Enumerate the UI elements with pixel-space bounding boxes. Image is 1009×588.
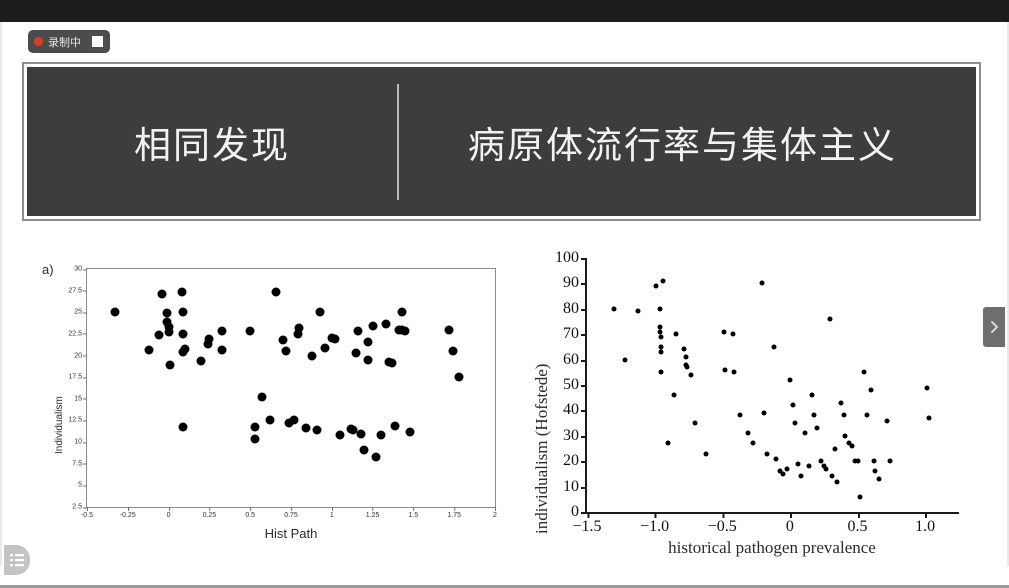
y-tick-label: 30 [563,427,587,445]
x-tick-label: 0.5 [848,512,868,536]
scatter-point [798,474,803,479]
scatter-point [658,306,663,311]
list-menu-icon [10,553,24,567]
y-tick-label: 100 [555,249,587,267]
chart-b-y-axis-label: individualism (Hofstede) [532,364,552,534]
y-tick-label: 15 [74,395,87,402]
x-tick-label: -0.25 [120,507,136,519]
next-slide-button[interactable] [983,307,1005,347]
scatter-point [455,373,464,382]
x-tick-label: 0.25 [203,507,217,519]
x-tick-label: -0.5 [81,507,93,519]
scatter-point [154,330,163,339]
scatter-point [862,370,867,375]
x-tick-label: −0.5 [708,512,737,536]
y-tick-label: 50 [563,376,587,394]
scatter-point [824,466,829,471]
scatter-point [353,327,362,336]
scatter-point [363,337,372,346]
scatter-point [246,327,255,336]
y-tick-label: 10 [74,439,87,446]
scatter-point [388,359,397,368]
x-tick-label: 0 [786,512,794,536]
scatter-point [158,290,167,299]
scatter-point [689,372,694,377]
scatter-point [301,424,310,433]
x-tick-label: 1.0 [915,512,935,536]
scatter-point [839,400,844,405]
scatter-point [401,327,410,336]
chart-b-x-axis-label: historical pathogen prevalence [585,538,959,558]
scatter-point [885,418,890,423]
scatter-point [842,413,847,418]
scatter-point [877,476,882,481]
scatter-point [282,347,291,356]
x-tick-label: 0.5 [245,507,255,519]
scatter-point [352,348,361,357]
scatter-point [682,347,687,352]
scatter-point [376,431,385,440]
scatter-point [179,329,188,338]
scatter-point [685,365,690,370]
scatter-point [693,421,698,426]
scatter-point [722,367,727,372]
y-tick-label: 27.5 [68,287,87,294]
scatter-point [218,327,227,336]
scatter-point [790,403,795,408]
scatter-point [721,329,726,334]
y-tick-label: 20 [563,452,587,470]
scatter-point [368,322,377,331]
chart-b-plot-area: 0102030405060708090100−1.5−1.0−0.500.51.… [585,258,959,514]
scatter-point [659,334,664,339]
record-dot-icon [34,37,43,46]
chart-a-plot-area: 2.557.51012.51517.52022.52527.530-0.5-0.… [86,268,496,508]
scatter-point [257,393,266,402]
scatter-point [745,431,750,436]
x-tick-label: 1 [330,507,334,519]
y-tick-label: 20 [74,352,87,359]
y-tick-label: 40 [563,401,587,419]
scatter-point [251,435,260,444]
scatter-point [666,441,671,446]
scatter-chart-panel-b: individualism (Hofstede) historical path… [522,244,982,554]
chart-a-x-axis-label: Hist Path [86,526,496,541]
y-tick-label: 12.5 [68,417,87,424]
scatter-point [843,433,848,438]
scatter-point [636,309,641,314]
scatter-point [371,452,380,461]
scatter-point [363,355,372,364]
scatter-point [179,308,188,317]
scatter-point [660,278,665,283]
x-tick-label: 2 [493,507,497,519]
scatter-point [406,427,415,436]
x-tick-label: 1.25 [366,507,380,519]
scatter-point [927,416,932,421]
scatter-point [321,343,330,352]
panel-label-a: a) [42,262,54,277]
scatter-point [205,335,214,344]
scatter-point [796,461,801,466]
scatter-point [814,426,819,431]
scatter-point [674,332,679,337]
scatter-point [445,326,454,335]
x-tick-label: −1.0 [640,512,669,536]
scatter-point [290,416,299,425]
scatter-point [265,416,274,425]
scatter-chart-panel-a: a) Individualism Hist Path 2.557.51012.5… [32,254,502,549]
scatter-point [835,479,840,484]
scatter-point [737,413,742,418]
scatter-point [166,361,175,370]
scatter-point [612,306,617,311]
window-top-bar [0,0,1009,22]
scatter-point [771,344,776,349]
scatter-point [145,346,154,355]
scatter-point [850,443,855,448]
y-tick-label: 25 [74,309,87,316]
scatter-point [858,494,863,499]
stop-square-icon [92,36,103,47]
scatter-point [869,388,874,393]
scatter-point [272,288,281,297]
scatter-point [659,349,664,354]
scatter-point [865,413,870,418]
scatter-point [308,352,317,361]
scatter-point [162,309,171,318]
scatter-point [197,356,206,365]
scatter-point [659,370,664,375]
scatter-point [335,431,344,440]
scatter-point [448,347,457,356]
scatter-point [787,377,792,382]
recording-indicator[interactable]: 录制中 [28,30,110,53]
scatter-point [781,471,786,476]
y-tick-label: 90 [563,274,587,292]
scatter-point [164,328,173,337]
scatter-point [785,466,790,471]
scatter-point [278,335,287,344]
scatter-point [732,370,737,375]
scatter-point [832,446,837,451]
x-tick-label: 1.5 [409,507,419,519]
scatter-point [177,287,186,296]
y-tick-label: 70 [563,325,587,343]
scatter-point [806,464,811,469]
slide-menu-button[interactable] [4,545,30,575]
scatter-point [764,451,769,456]
title-right-text: 病原体流行率与集体主义 [399,115,976,169]
scatter-point [683,355,688,360]
scatter-point [802,431,807,436]
y-tick-label: 22.5 [68,330,87,337]
slide-canvas[interactable]: 相同发现 病原体流行率与集体主义 a) Individualism Hist P… [0,22,1009,566]
scatter-point [855,459,860,464]
recording-label: 录制中 [48,34,81,50]
scatter-point [888,459,893,464]
y-tick-label: 80 [563,300,587,318]
scatter-point [751,441,756,446]
y-tick-label: 60 [563,351,587,369]
scatter-point [180,344,189,353]
slide-title-banner: 相同发现 病原体流行率与集体主义 [24,64,979,219]
scatter-point [812,413,817,418]
scatter-point [828,316,833,321]
scatter-point [357,430,366,439]
x-tick-label: 0 [167,507,171,519]
scatter-point [774,456,779,461]
scatter-point [313,425,322,434]
chart-a-y-axis-label: Individualism [54,396,65,454]
scatter-point [397,308,406,317]
y-tick-label: 30 [74,266,87,273]
scatter-point [871,459,876,464]
x-tick-label: −1.5 [572,512,601,536]
scatter-point [829,474,834,479]
scatter-point [873,469,878,474]
x-tick-label: 1.75 [447,507,461,519]
scatter-point [731,332,736,337]
title-left-text: 相同发现 [27,115,397,169]
scatter-point [622,357,627,362]
scatter-point [316,308,325,317]
scatter-point [218,346,227,355]
stop-recording-button[interactable] [88,32,107,51]
scatter-point [704,451,709,456]
scatter-point [331,335,340,344]
scatter-point [671,393,676,398]
scatter-point [653,283,658,288]
scatter-point [924,385,929,390]
scatter-point [295,323,304,332]
y-tick-label: 10 [563,478,587,496]
scatter-point [809,393,814,398]
scatter-point [360,445,369,454]
y-tick-label: 5 [78,482,87,489]
y-tick-label: 7.5 [72,460,87,467]
scatter-point [759,281,764,286]
y-tick-label: 17.5 [68,374,87,381]
x-tick-label: 0.75 [284,507,298,519]
chevron-right-icon [990,320,999,334]
scatter-point [110,308,119,317]
presentation-window: 相同发现 病原体流行率与集体主义 a) Individualism Hist P… [0,0,1009,588]
scatter-point [793,421,798,426]
scatter-point [762,410,767,415]
scatter-point [251,422,260,431]
scatter-point [391,421,400,430]
scatter-point [179,422,188,431]
scatter-point [381,320,390,329]
